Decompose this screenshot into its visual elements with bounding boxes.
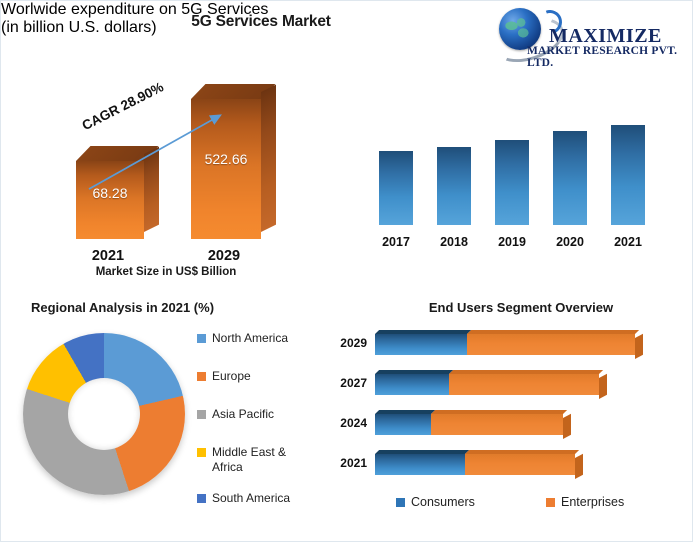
- segment-bar-side-face: [575, 454, 583, 479]
- segment-row-2024: 2024: [331, 411, 661, 437]
- segment-bar-top-face: [449, 370, 603, 374]
- segment-row-2021: 2021: [331, 451, 661, 477]
- expenditure-bar: [495, 140, 529, 225]
- legend-label: Enterprises: [561, 495, 624, 509]
- segment-year-label: 2024: [331, 416, 367, 430]
- segment-bar-top-face: [431, 410, 567, 414]
- market-size-bar-2029: 522.66: [191, 99, 261, 239]
- expenditure-year-2020: 2020: [548, 235, 592, 249]
- end-users-segment-chart: 2029 2027 2024: [331, 327, 681, 487]
- market-size-value-2029: 522.66: [191, 151, 261, 167]
- legend-swatch-asia-pacific: [197, 410, 206, 419]
- legend-item-consumers: Consumers: [396, 495, 475, 509]
- market-size-year-2029: 2029: [189, 248, 259, 264]
- legend-label: North America: [212, 331, 288, 346]
- market-size-caption: Market Size in US$ Billion: [41, 266, 291, 278]
- legend-swatch-europe: [197, 372, 206, 381]
- expenditure-year-2017: 2017: [374, 235, 418, 249]
- expenditure-year-2018: 2018: [432, 235, 476, 249]
- expenditure-bar: [611, 125, 645, 225]
- legend-swatch-north-america: [197, 334, 206, 343]
- segment-bar-enterprises-2024: [431, 414, 563, 435]
- regional-analysis-donut-chart: [19, 329, 191, 511]
- segment-bar-top-face: [375, 370, 453, 374]
- segment-bar-enterprises-2027: [449, 374, 599, 395]
- market-size-chart: 68.28 522.66 CAGR 28.90% 2021 2029: [31, 89, 331, 269]
- segment-bar-consumers-2029: [375, 334, 467, 355]
- legend-label: Asia Pacific: [212, 407, 274, 422]
- market-size-value-2021: 68.28: [76, 185, 144, 201]
- expenditure-bar: [379, 151, 413, 225]
- segment-bar-consumers-2021: [375, 454, 465, 475]
- market-size-year-2021: 2021: [73, 248, 143, 264]
- segment-year-label: 2027: [331, 376, 367, 390]
- page-title: 5G Services Market: [1, 13, 521, 31]
- legend-label: Consumers: [411, 495, 475, 509]
- legend-swatch-consumers: [396, 498, 405, 507]
- bar-side-face: [144, 147, 159, 232]
- segment-bar-enterprises-2021: [465, 454, 575, 475]
- regional-chart-title: Regional Analysis in 2021 (%): [31, 298, 301, 317]
- segment-bar-top-face: [375, 410, 435, 414]
- infographic-canvas: 5G Services Market MAXIMIZE MARKET RESEA…: [0, 0, 693, 542]
- legend-swatch-middle-east-africa: [197, 448, 206, 457]
- segment-year-label: 2029: [331, 336, 367, 350]
- expenditure-bar: [553, 131, 587, 225]
- donut-center-hole: [68, 378, 140, 450]
- legend-swatch-enterprises: [546, 498, 555, 507]
- bar-side-face: [261, 85, 276, 232]
- segment-row-2027: 2027: [331, 371, 661, 397]
- expenditure-bar: [437, 147, 471, 225]
- market-size-bar-2021: 68.28: [76, 161, 144, 239]
- cagr-annotation-label: CAGR 28.90%: [80, 79, 166, 133]
- legend-item-asia-pacific: Asia Pacific: [197, 407, 274, 422]
- expenditure-year-2019: 2019: [490, 235, 534, 249]
- segment-bar-top-face: [465, 450, 579, 454]
- legend-item-enterprises: Enterprises: [546, 495, 624, 509]
- legend-swatch-south-america: [197, 494, 206, 503]
- bar-front-face: [191, 99, 261, 239]
- company-logo: MAXIMIZE MARKET RESEARCH PVT. LTD.: [493, 7, 689, 59]
- segment-bar-consumers-2027: [375, 374, 449, 395]
- segment-bar-side-face: [599, 374, 607, 399]
- legend-label: South America: [212, 491, 290, 506]
- segment-bar-top-face: [375, 330, 471, 334]
- segment-year-label: 2021: [331, 456, 367, 470]
- legend-item-north-america: North America: [197, 331, 288, 346]
- segment-bar-top-face: [375, 450, 469, 454]
- segment-bar-side-face: [635, 334, 643, 359]
- legend-item-south-america: South America: [197, 491, 290, 506]
- expenditure-year-2021: 2021: [606, 235, 650, 249]
- worldwide-expenditure-chart: 2017 2018 2019 2020 2021: [369, 119, 669, 249]
- segment-bar-consumers-2024: [375, 414, 431, 435]
- segment-bar-side-face: [563, 414, 571, 439]
- legend-label: Europe: [212, 369, 251, 384]
- legend-item-europe: Europe: [197, 369, 251, 384]
- legend-item-middle-east-africa: Middle East & Africa: [197, 445, 309, 475]
- segment-chart-title: End Users Segment Overview: [381, 298, 661, 317]
- segment-bar-top-face: [467, 330, 639, 334]
- segment-row-2029: 2029: [331, 331, 661, 357]
- legend-label: Middle East & Africa: [212, 445, 309, 475]
- segment-bar-enterprises-2029: [467, 334, 635, 355]
- logo-brand-secondary: MARKET RESEARCH PVT. LTD.: [527, 45, 689, 69]
